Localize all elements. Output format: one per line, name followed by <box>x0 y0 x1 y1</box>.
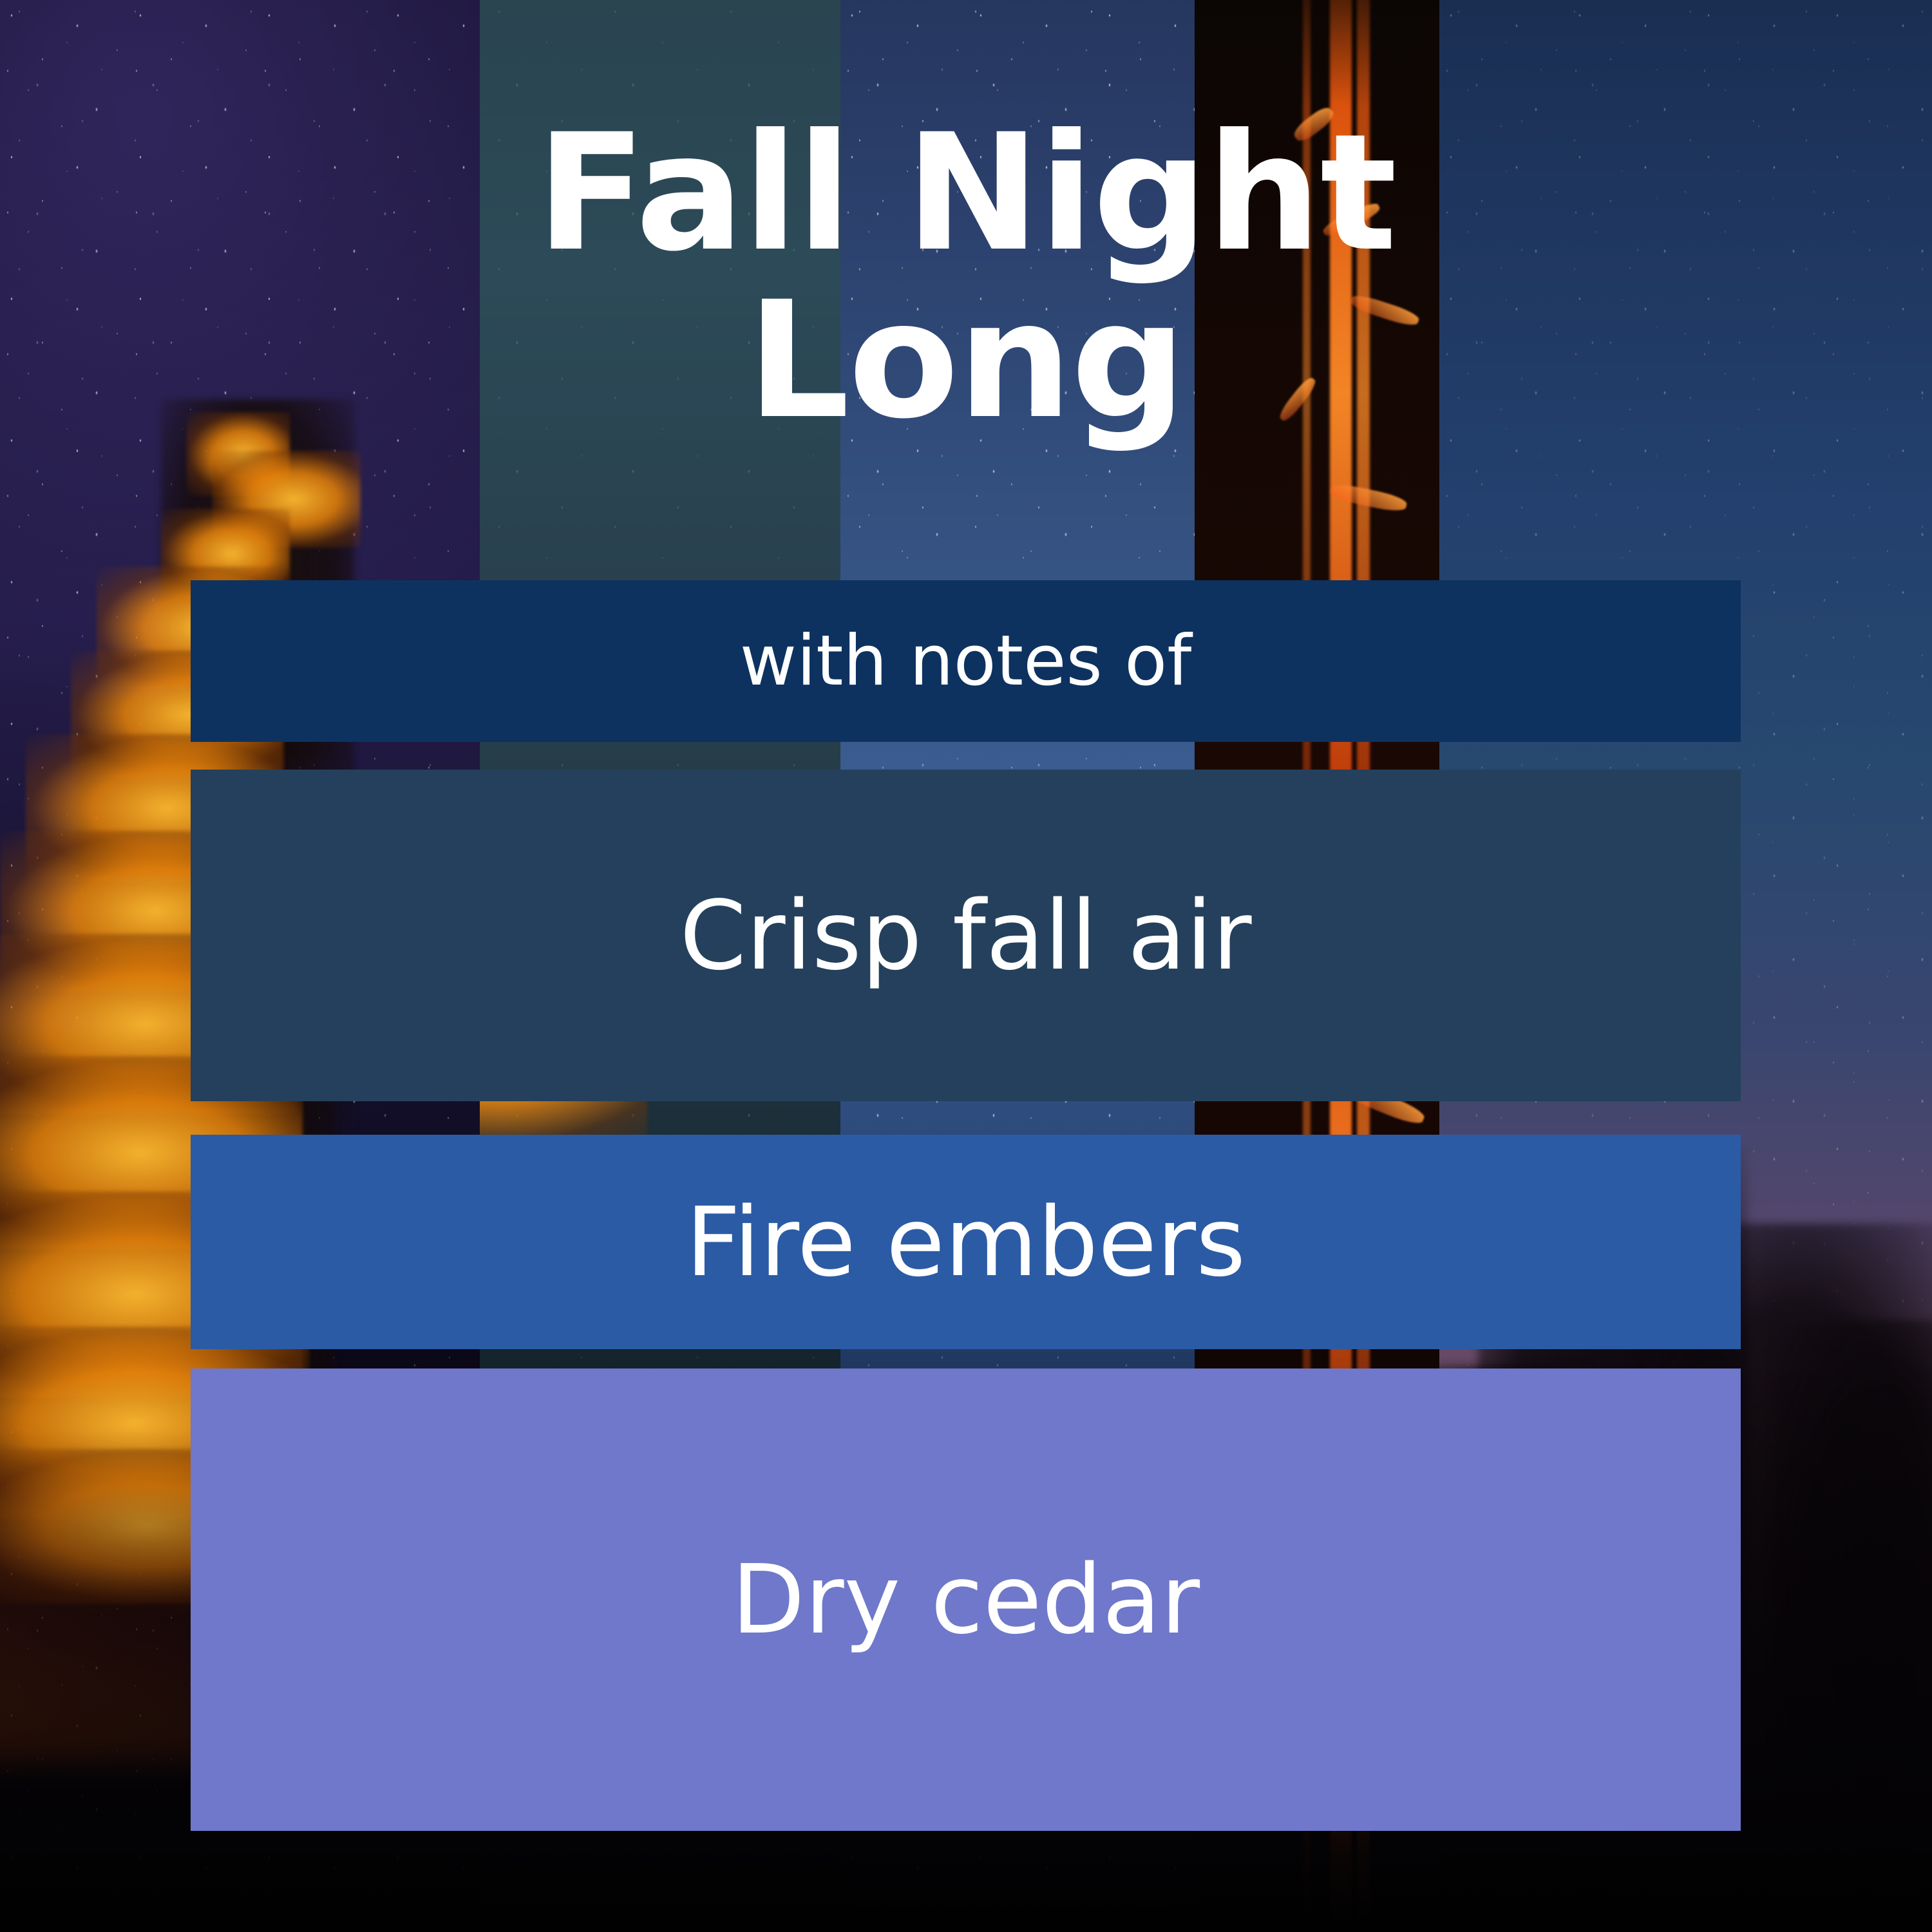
banner-label: Crisp fall air <box>679 880 1251 991</box>
banner-label: Dry cedar <box>732 1544 1200 1655</box>
banner-label: Fire embers <box>686 1187 1245 1298</box>
banner-with-notes-of: with notes of <box>191 580 1741 742</box>
banner-note-fire-embers: Fire embers <box>191 1135 1741 1349</box>
page-title: Fall Night Long <box>0 109 1932 444</box>
banner-note-dry-cedar: Dry cedar <box>191 1368 1741 1831</box>
banner-note-crisp-fall-air: Crisp fall air <box>191 770 1741 1101</box>
poster-canvas: Fall Night Long with notes of Crisp fall… <box>0 0 1932 1932</box>
banner-label: with notes of <box>740 621 1191 701</box>
